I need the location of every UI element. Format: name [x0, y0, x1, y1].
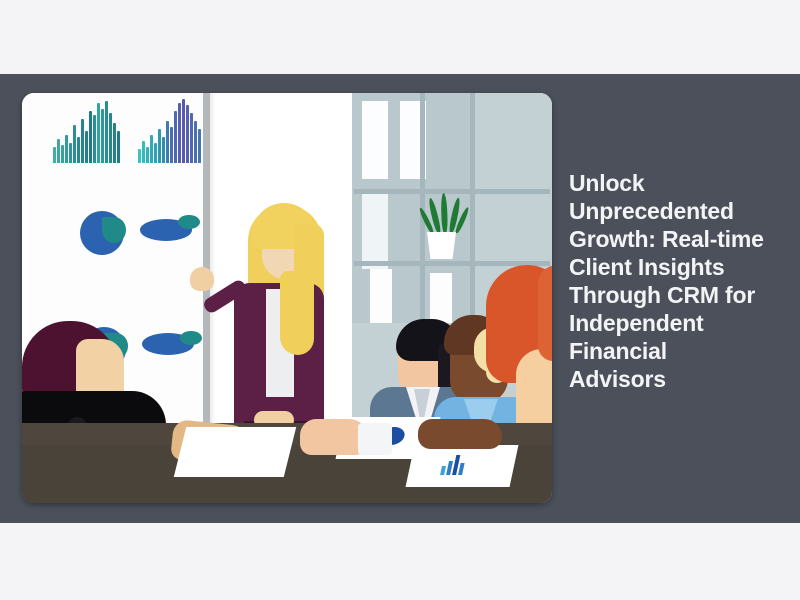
- cuff-center: [358, 423, 392, 455]
- plant-pot: [427, 232, 456, 259]
- bar-chart-left: [53, 101, 120, 163]
- paper-bar-chart: [440, 453, 467, 475]
- paper-document-with-bars: [406, 445, 519, 487]
- shelf-divider: [470, 93, 475, 323]
- shelf-book: [370, 269, 392, 323]
- window-pane: [362, 101, 388, 179]
- pie-chart-upper-slice: [102, 217, 126, 243]
- shelf-board: [354, 189, 550, 194]
- meeting-illustration: [22, 93, 552, 503]
- illustration-card: [22, 93, 552, 503]
- window-pane: [362, 191, 388, 269]
- bar-chart-right: [138, 101, 201, 163]
- paper-document: [174, 427, 296, 477]
- pie-chart-flat-lower-slice: [180, 331, 202, 345]
- page-title: Unlock Unprecedented Growth: Real-time C…: [569, 169, 769, 393]
- hand-woman-dark: [418, 419, 502, 449]
- pie-chart-flat-upper-slice: [178, 215, 200, 229]
